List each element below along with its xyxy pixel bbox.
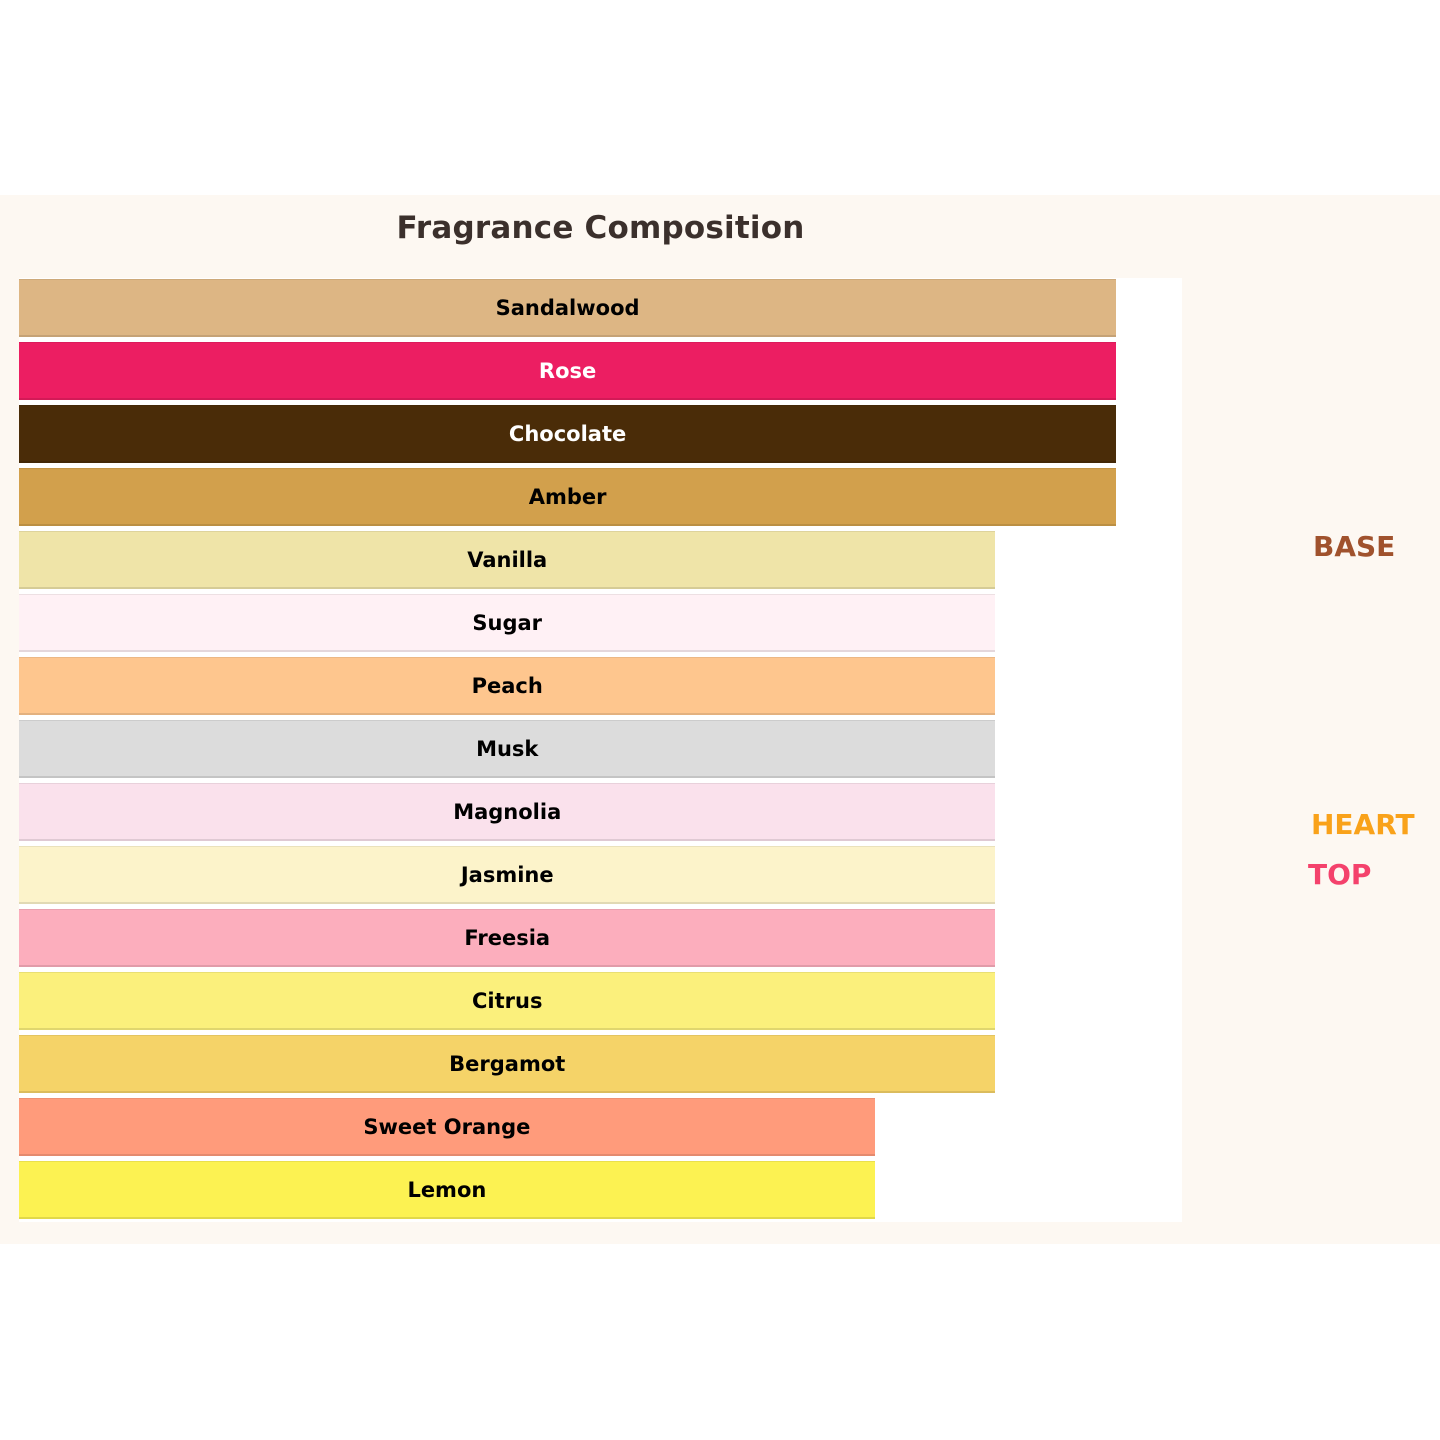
bar-vanilla[interactable] [19,531,995,589]
stage-label-base[interactable]: BASE [1313,530,1395,563]
bar-row[interactable]: Sugar [19,594,995,652]
bar-row[interactable]: Magnolia [19,783,995,841]
bar-row[interactable]: Freesia [19,909,995,967]
stage-label-top[interactable]: TOP [1308,858,1371,891]
bar-bergamot[interactable] [19,1035,995,1093]
bar-row[interactable]: Bergamot [19,1035,995,1093]
bar-row[interactable]: Jasmine [19,846,995,904]
bar-row[interactable]: Peach [19,657,995,715]
chart-figure: Fragrance Composition SandalwoodRoseChoc… [0,0,1440,1440]
bar-chocolate[interactable] [19,405,1116,463]
bar-sweet-orange[interactable] [19,1098,875,1156]
bar-magnolia[interactable] [19,783,995,841]
bar-row[interactable]: Rose [19,342,1116,400]
bar-jasmine[interactable] [19,846,995,904]
bar-amber[interactable] [19,468,1116,526]
bar-row[interactable]: Sandalwood [19,279,1116,337]
bar-citrus[interactable] [19,972,995,1030]
bar-row[interactable]: Lemon [19,1161,875,1219]
bar-freesia[interactable] [19,909,995,967]
bar-musk[interactable] [19,720,995,778]
bar-row[interactable]: Sweet Orange [19,1098,875,1156]
bar-peach[interactable] [19,657,995,715]
stage-label-heart[interactable]: HEART [1311,808,1415,841]
bar-row[interactable]: Chocolate [19,405,1116,463]
page-title: Fragrance Composition [19,210,1182,246]
bar-row[interactable]: Vanilla [19,531,995,589]
bar-row[interactable]: Amber [19,468,1116,526]
bar-rose[interactable] [19,342,1116,400]
bar-row[interactable]: Musk [19,720,995,778]
bar-lemon[interactable] [19,1161,875,1219]
bar-row[interactable]: Citrus [19,972,995,1030]
bar-sandalwood[interactable] [19,279,1116,337]
bar-sugar[interactable] [19,594,995,652]
